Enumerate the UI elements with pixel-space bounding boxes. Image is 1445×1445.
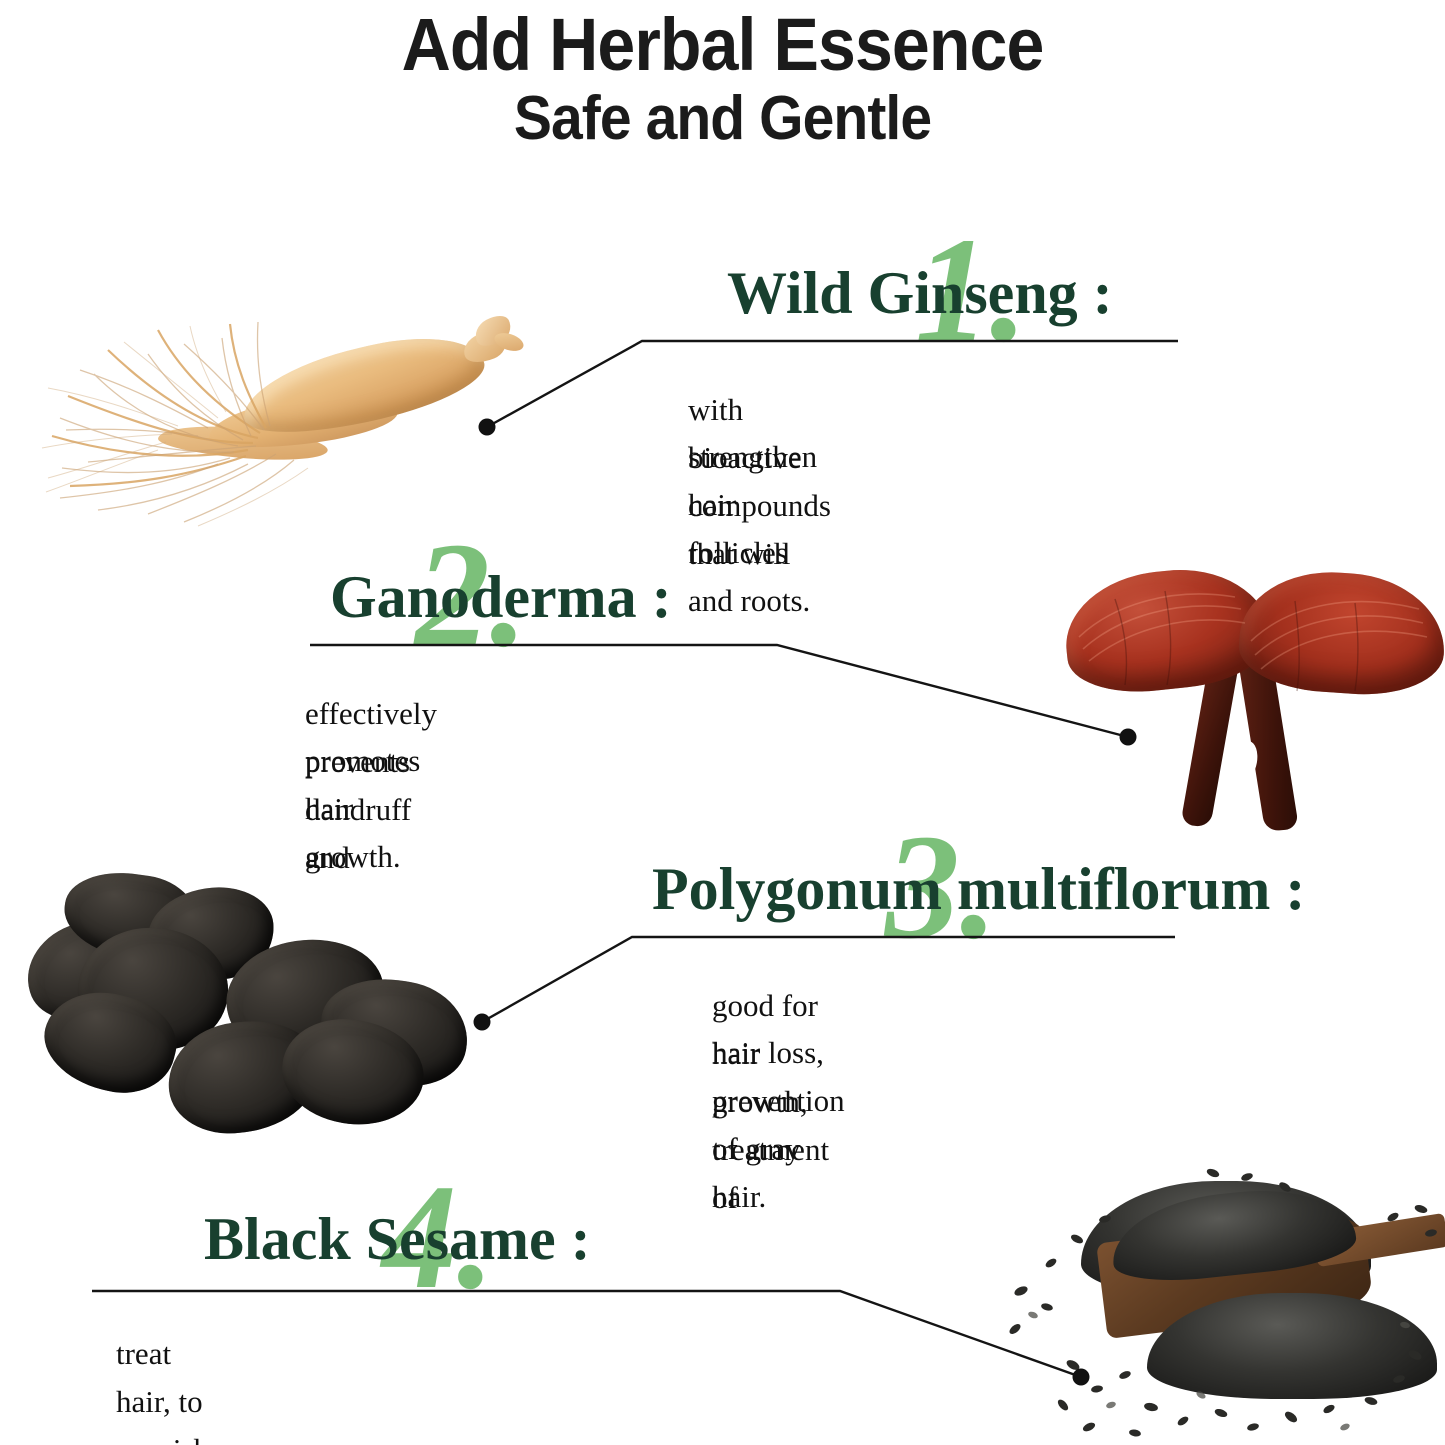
leader-line-4 <box>92 1291 1090 1386</box>
wild-ginseng-root-photo <box>8 278 528 528</box>
sesame-scattered-seeds <box>985 1165 1445 1445</box>
section-rule-4 <box>92 1290 840 1292</box>
section-heading-4: Black Sesame : <box>204 1208 591 1271</box>
title-line-2: Safe and Gentle <box>58 88 1387 150</box>
section-rule-1 <box>642 340 1178 342</box>
ganoderma-cap-texture <box>1055 545 1445 835</box>
ganoderma-reishi-mushroom-photo <box>1055 545 1445 835</box>
title-line-1: Add Herbal Essence <box>58 8 1387 82</box>
section-body-4-line-1: treat hair, to nourish and improve hair … <box>116 1330 219 1445</box>
ginseng-whisker-roots <box>8 278 528 528</box>
section-body-1-line-2: strengthen hair follicles and roots. <box>688 433 817 625</box>
section-heading-2: Ganoderma : <box>330 566 672 629</box>
section-rule-3 <box>632 936 1175 938</box>
polygonum-multiflorum-slices-photo <box>20 862 490 1137</box>
black-sesame-seeds-scoop-photo <box>985 1165 1445 1445</box>
section-heading-3: Polygonum multiflorum : <box>652 858 1305 921</box>
section-body-2-line-2: promotes hair growth. <box>305 737 420 881</box>
section-rule-2 <box>310 644 777 646</box>
section-heading-1: Wild Ginseng : <box>727 262 1113 325</box>
infographic-page: Add Herbal Essence Safe and Gentle 1. Wi… <box>0 0 1445 1445</box>
page-title: Add Herbal Essence Safe and Gentle <box>0 8 1445 150</box>
section-body-3-line-2: hair loss, prevention of gray hair. <box>712 1029 845 1221</box>
